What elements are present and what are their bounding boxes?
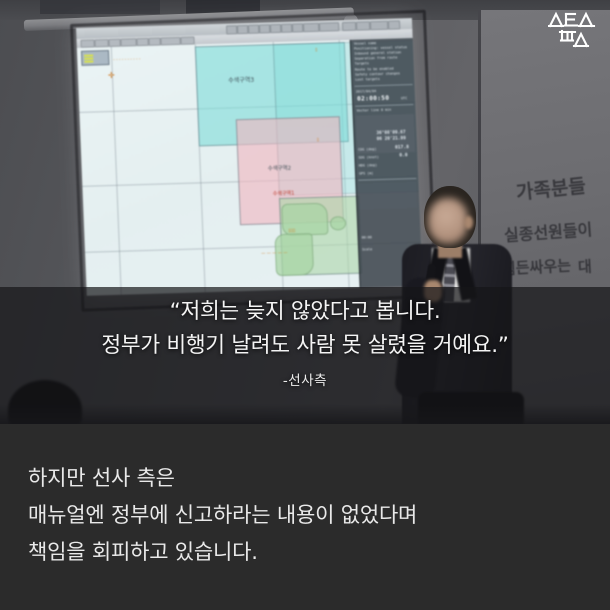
quote-line-1: “저희는 늦지 않았다고 봅니다. bbox=[0, 295, 610, 329]
speaker-ear bbox=[464, 216, 473, 229]
whiteboard-handwriting-line: 대 bbox=[577, 255, 592, 277]
data-panel-row: Scale bbox=[362, 247, 372, 251]
data-panel-timezone: UTC bbox=[401, 96, 407, 100]
caption-band: 하지만 선사 측은 매뉴얼엔 정부에 신고하라는 내용이 없었다며 책임을 회피… bbox=[0, 424, 610, 610]
data-panel-cog-value: 017.8 bbox=[395, 145, 409, 150]
quote-block: “저희는 늦지 않았다고 봅니다. 정부가 비행기 날려도 사람 못 살렸을 거… bbox=[0, 295, 610, 389]
projection-screen: 수색구역3 수색구역2 수색구역1 - - - - - - - - - - ▯▯… bbox=[76, 18, 423, 296]
toolbar-button[interactable] bbox=[292, 23, 303, 32]
news-card: 가족분들 실종선원들이 힘든싸우는 대 bbox=[0, 0, 610, 610]
chart-annotation: ▯▯▯ bbox=[288, 228, 295, 233]
data-panel-sog-value: 0.0 bbox=[399, 153, 408, 158]
data-panel-divider bbox=[358, 178, 416, 181]
caption-line-3: 책임을 회피하고 있습니다. bbox=[28, 534, 586, 571]
data-panel-divider bbox=[355, 104, 413, 107]
data-panel-row: Lost targets bbox=[355, 77, 380, 82]
toolbar-button[interactable] bbox=[342, 22, 356, 31]
vessel-target-marker: ✛ bbox=[108, 71, 115, 80]
data-panel-time: 02:00:50 bbox=[357, 95, 389, 103]
ceiling-panel bbox=[40, 0, 160, 14]
sbs-subusu-news-logo[interactable] bbox=[548, 10, 596, 50]
toolbar-button[interactable] bbox=[108, 39, 120, 47]
toolbar-button[interactable] bbox=[281, 24, 292, 33]
speaker-blurred-face bbox=[428, 198, 468, 244]
search-area-label: 수색구역2 bbox=[268, 164, 292, 173]
toolbar-button[interactable] bbox=[259, 24, 270, 33]
toolbar-button[interactable] bbox=[180, 36, 194, 44]
chart-annotation: - - - - - - - - - - bbox=[113, 56, 140, 62]
caption-line-2: 매뉴얼엔 정부에 신고하라는 내용이 없었다며 bbox=[28, 497, 586, 534]
toolbar-button[interactable] bbox=[356, 21, 370, 30]
toolbar-button[interactable] bbox=[303, 23, 319, 32]
search-area-label: 수색구역3 bbox=[228, 75, 254, 85]
data-panel-vector-label: Vector line 0 min bbox=[356, 108, 391, 113]
data-panel-divider bbox=[355, 84, 413, 87]
toolbar-button[interactable] bbox=[370, 21, 388, 31]
quote-attribution: -선사측 bbox=[0, 369, 610, 389]
toolbar-button[interactable] bbox=[94, 39, 108, 47]
data-panel-gps-label: GPS (m) bbox=[359, 171, 373, 175]
data-panel-sog-label: SOG (knot) bbox=[358, 155, 379, 160]
data-panel-date: 2017/04/04 bbox=[356, 89, 377, 94]
data-panel-row: Vessel name bbox=[354, 41, 377, 46]
data-panel-row: Targets bbox=[355, 61, 369, 65]
toolbar-button[interactable] bbox=[226, 25, 237, 34]
chart-annotation: ▯ bbox=[317, 137, 320, 142]
toolbar-button[interactable] bbox=[248, 25, 259, 34]
chart-annotation: ▯ bbox=[315, 47, 318, 52]
briefing-photo: 가족분들 실종선원들이 힘든싸우는 대 bbox=[0, 0, 610, 424]
chart-annotation: — — — — — bbox=[261, 250, 287, 256]
data-panel-cog-label: COG (deg) bbox=[358, 147, 377, 152]
data-panel-longitude: 06 20'21.99 bbox=[377, 136, 406, 142]
search-area-label: 수색구역1 bbox=[273, 190, 295, 198]
data-panel-row: Separation from route bbox=[354, 55, 397, 60]
toolbar-button[interactable] bbox=[148, 37, 160, 45]
data-panel-latitude: 36°08'09.67 bbox=[376, 130, 405, 136]
data-panel-row: Safety contour changes bbox=[355, 71, 400, 76]
toolbar-button[interactable] bbox=[160, 37, 180, 46]
toolbar-button[interactable] bbox=[388, 20, 400, 29]
quote-line-2: 정부가 비행기 날려도 사람 못 살렸을 거예요.” bbox=[0, 329, 610, 363]
data-panel-row: 00:00 bbox=[362, 235, 372, 239]
toolbar-button[interactable] bbox=[237, 25, 248, 34]
caption-line-1: 하지만 선사 측은 bbox=[28, 460, 586, 497]
chart-legend-box bbox=[81, 50, 110, 66]
toolbar-button[interactable] bbox=[136, 38, 148, 46]
toolbar-button[interactable] bbox=[80, 39, 94, 47]
caption-text-block: 하지만 선사 측은 매뉴얼엔 정부에 신고하라는 내용이 없었다며 책임을 회피… bbox=[28, 460, 586, 571]
toolbar-button[interactable] bbox=[120, 38, 136, 46]
toolbar-button[interactable] bbox=[270, 24, 281, 33]
toolbar-button[interactable] bbox=[319, 22, 339, 32]
data-panel-hdg-label: HDG (deg) bbox=[359, 163, 378, 168]
